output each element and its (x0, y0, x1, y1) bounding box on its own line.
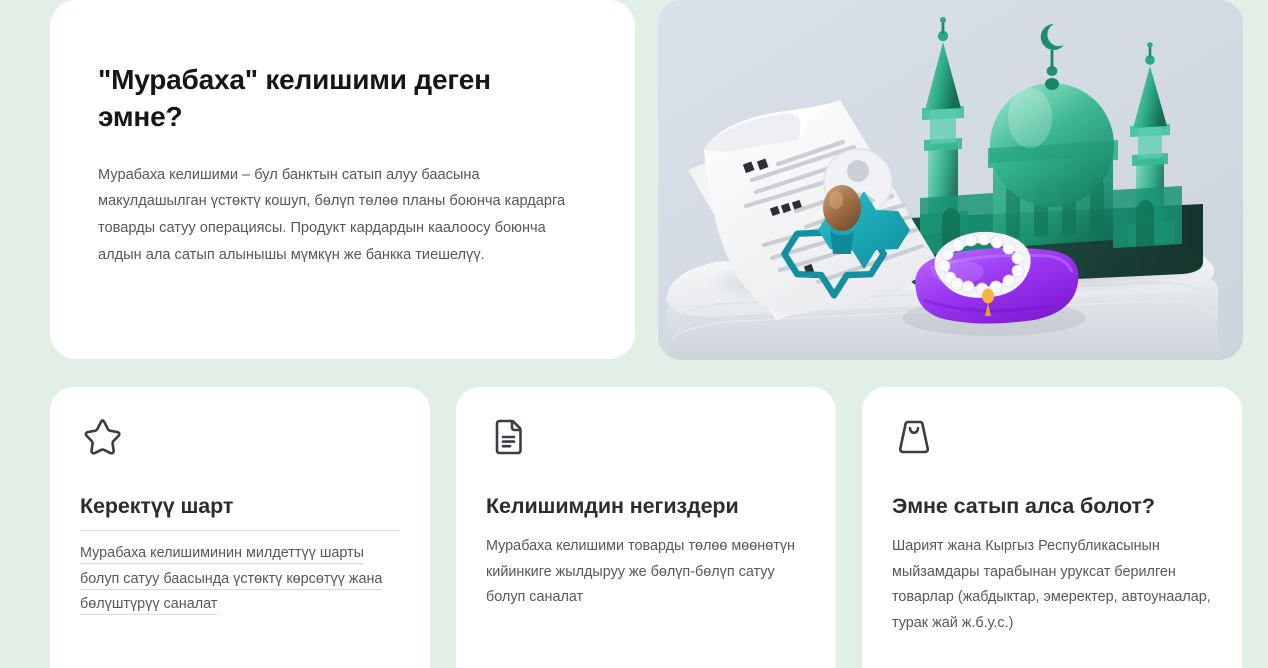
feature-card-what-can-be-bought[interactable]: Эмне сатып алса болот? Шарият жана Кыргы… (862, 387, 1242, 668)
feature-title: Келишимдин негиздери (486, 493, 806, 520)
mosque-document-illustration-svg (658, 0, 1243, 360)
feature-body: Мурабаха келишими товарды төлөө мөөнөтүн… (486, 534, 806, 611)
page-title: "Мурабаха" келишими деген эмне? (98, 62, 578, 136)
hero-row: "Мурабаха" келишими деген эмне? Мурабаха… (0, 0, 1268, 361)
feature-title: Керектүү шарт (80, 493, 400, 520)
star-icon (80, 415, 124, 459)
feature-card-contract-basis[interactable]: Келишимдин негиздери Мурабаха келишими т… (456, 387, 836, 668)
hero-illustration (658, 0, 1243, 360)
intro-description: Мурабаха келишими – бул банктын сатып ал… (98, 162, 576, 268)
feature-title: Эмне сатып алса болот? (892, 493, 1212, 520)
feature-body: Шарият жана Кыргыз Республикасынын мыйза… (892, 534, 1212, 637)
feature-card-required-condition[interactable]: Керектүү шарт Мурабаха келишиминин милде… (50, 387, 430, 668)
shopping-bag-icon (892, 415, 936, 459)
feature-body: Мурабаха келишиминин милдеттүү шарты бол… (80, 545, 382, 615)
document-icon (486, 415, 530, 459)
feature-body-wrapper: Мурабаха келишиминин милдеттүү шарты бол… (80, 530, 400, 618)
intro-card: "Мурабаха" келишими деген эмне? Мурабаха… (50, 0, 635, 359)
feature-cards-row: Керектүү шарт Мурабаха келишиминин милде… (0, 387, 1268, 668)
page-root: "Мурабаха" келишими деген эмне? Мурабаха… (0, 0, 1268, 668)
